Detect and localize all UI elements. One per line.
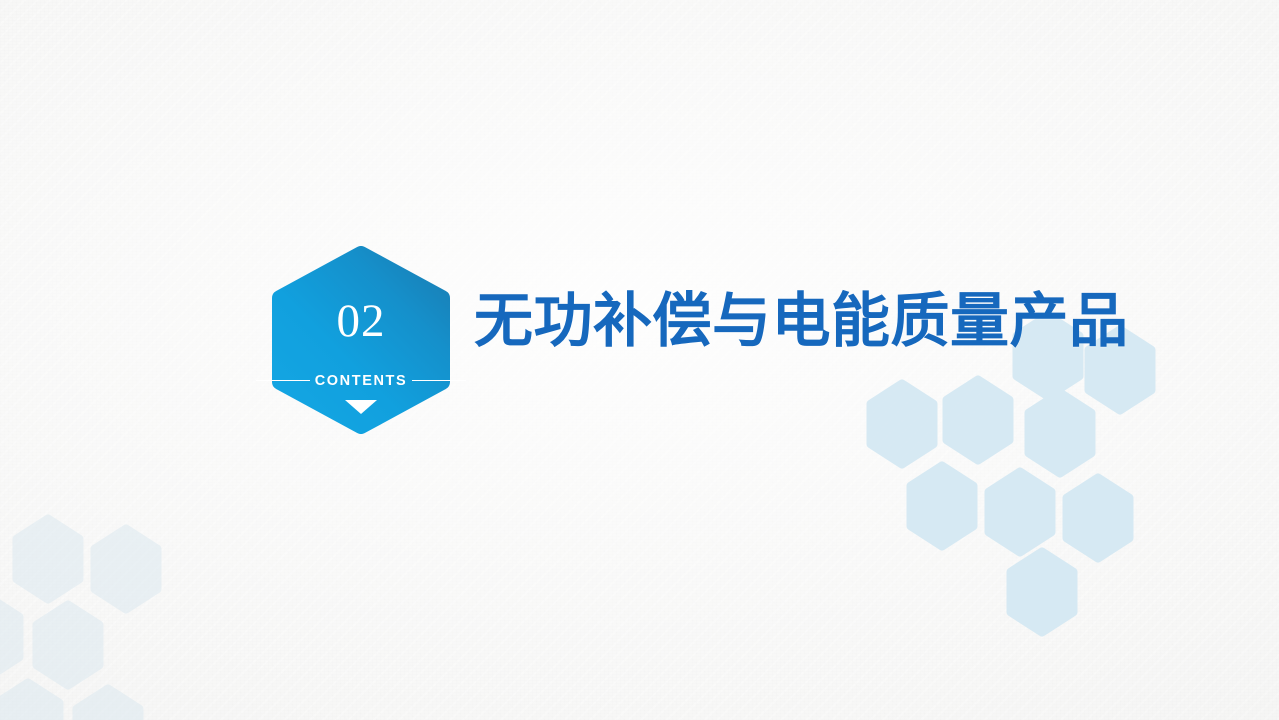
hexagon (37, 605, 99, 685)
section-number-badge: 02 CONTENTS (268, 246, 454, 434)
background-vignette (0, 0, 1279, 720)
slide-canvas: 02 CONTENTS 无功补偿与电能质量产品 (0, 0, 1279, 720)
hexagon (1067, 478, 1129, 558)
hexagon (17, 519, 79, 599)
rule-line-right (412, 380, 466, 381)
badge-number: 02 (268, 298, 454, 345)
hexagon (95, 529, 157, 609)
honeycomb-cluster-right (860, 300, 1220, 680)
hexagon (871, 384, 933, 464)
hexagon (1029, 393, 1091, 473)
paper-texture-overlay (0, 0, 1279, 720)
hexagon (989, 472, 1051, 552)
hexagon (0, 597, 19, 677)
hexagon (947, 380, 1009, 460)
caret-down-icon (345, 400, 377, 414)
hexagon (911, 466, 973, 546)
hexagon (77, 689, 139, 720)
rule-line-left (256, 380, 310, 381)
hexagon (1011, 552, 1073, 632)
badge-label: CONTENTS (310, 373, 413, 389)
badge-label-rule: CONTENTS (256, 370, 466, 391)
honeycomb-cluster-left (0, 505, 250, 720)
section-title: 无功补偿与电能质量产品 (474, 288, 1129, 356)
hexagon (0, 683, 59, 720)
